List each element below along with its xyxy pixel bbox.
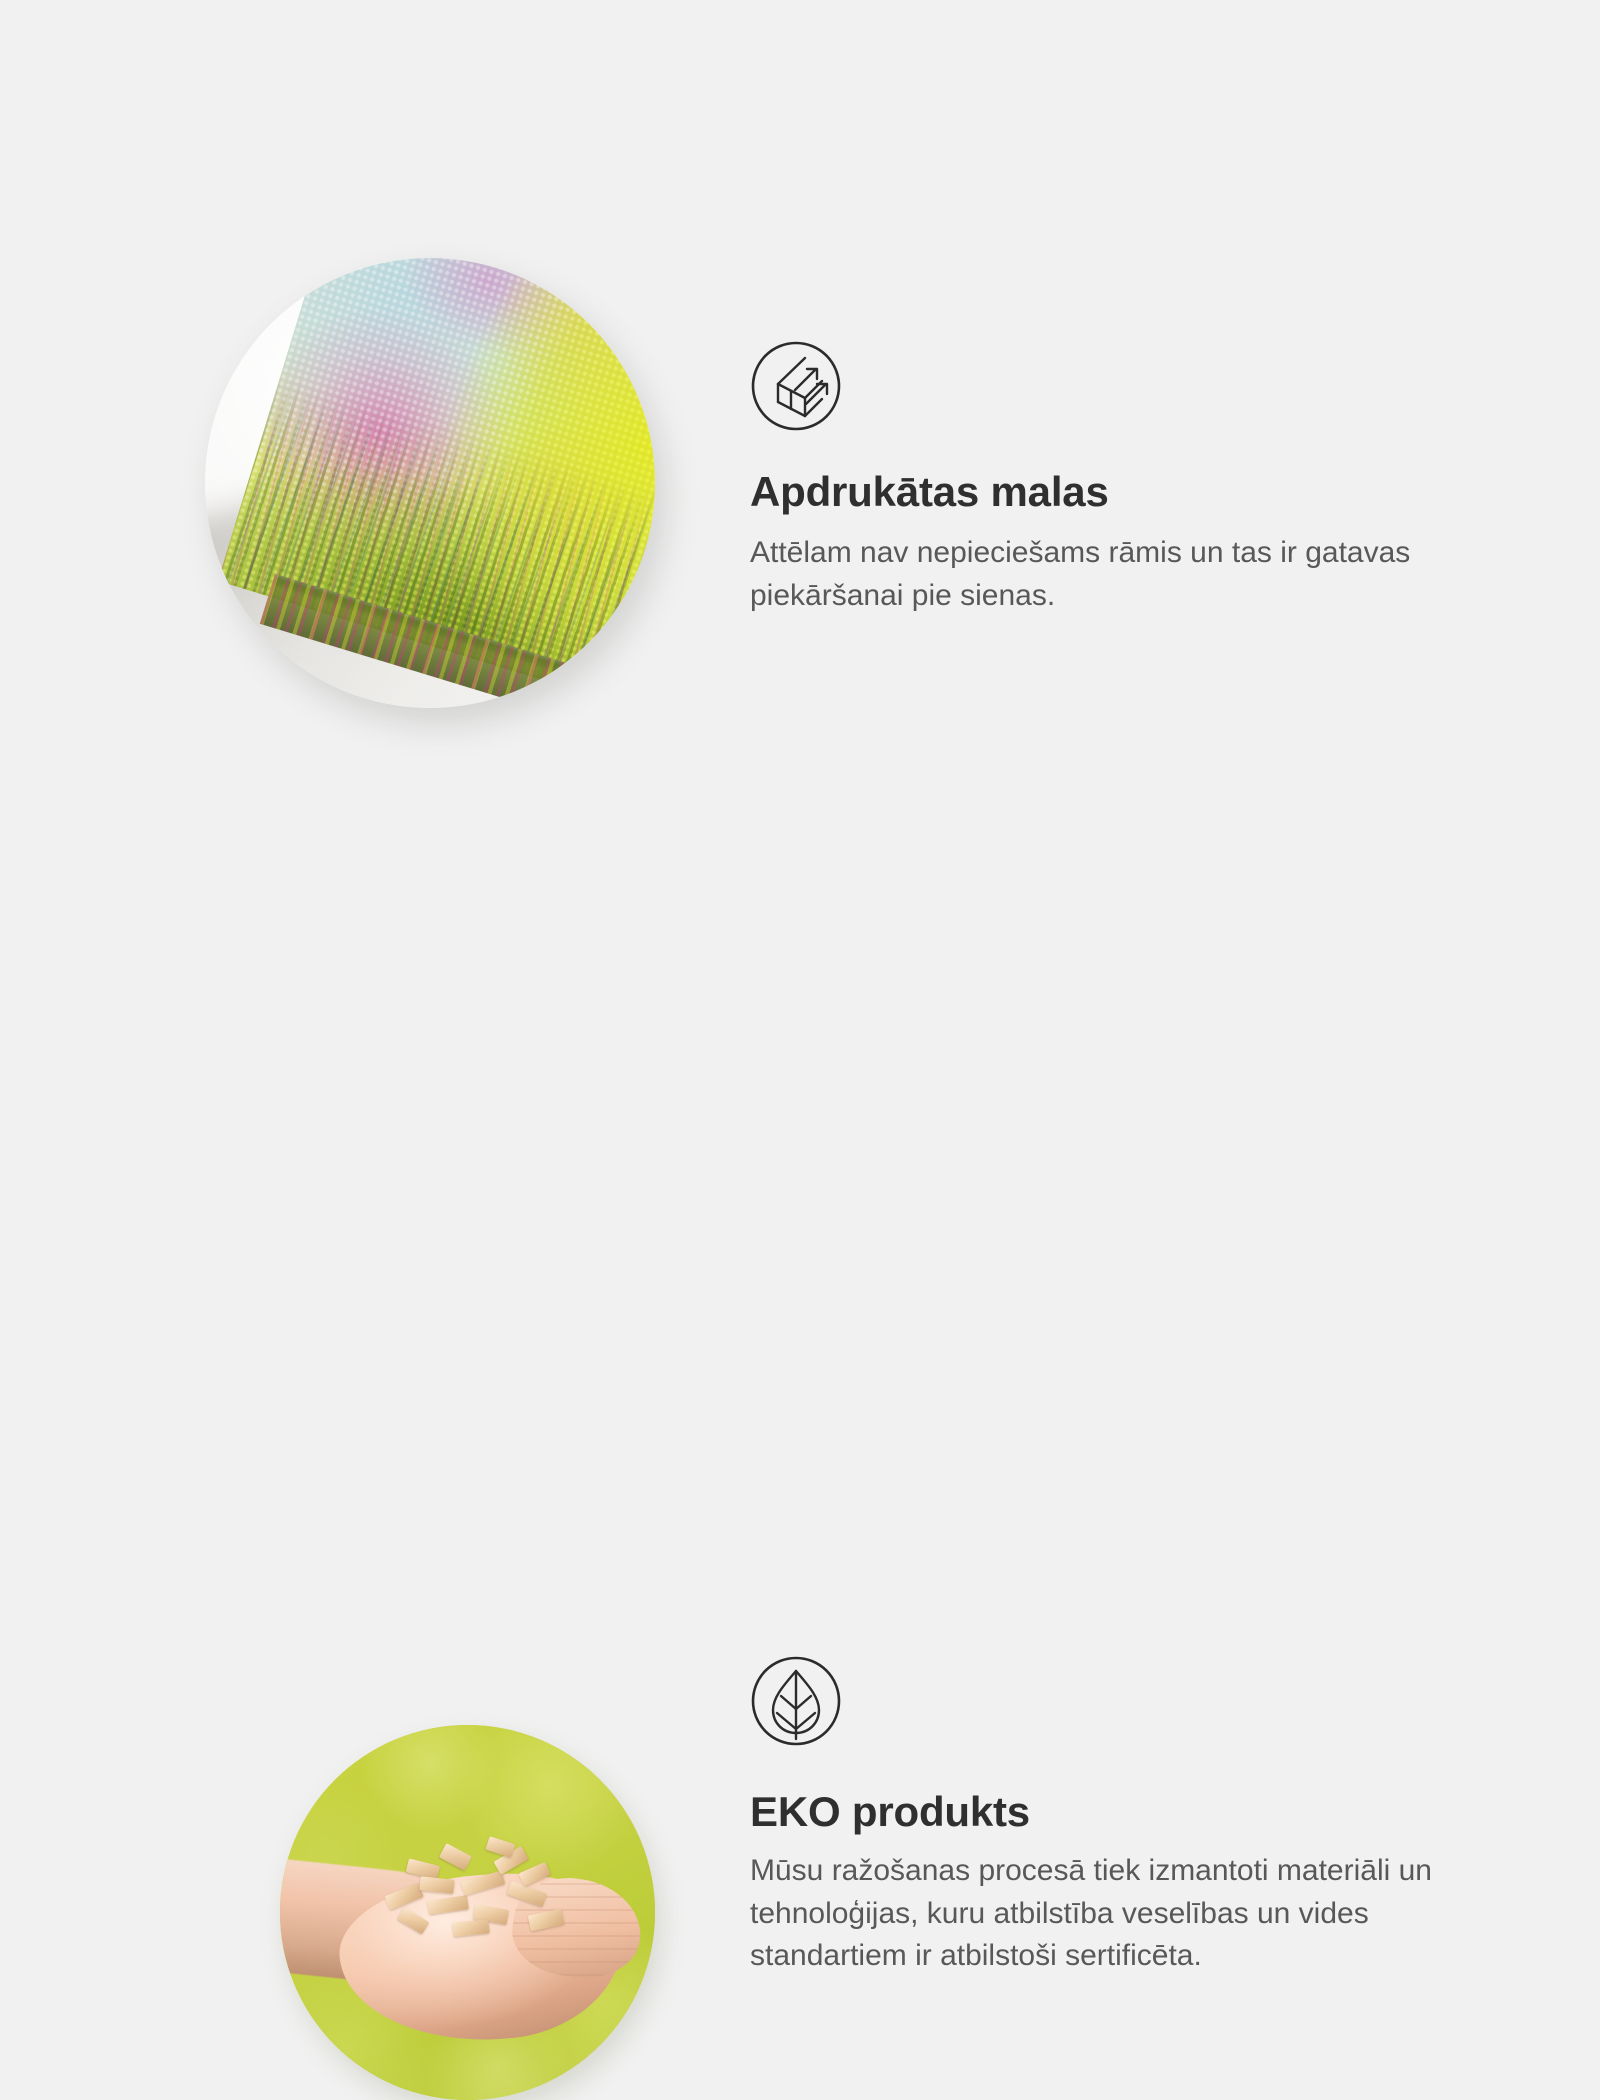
wood-chip [460, 1870, 504, 1895]
product-features-page: Apdrukātas malas Attēlam nav nepieciešam… [0, 0, 1600, 1600]
wood-chip [419, 1876, 454, 1893]
wood-chip [507, 1881, 547, 1907]
wood-chip [485, 1836, 515, 1857]
feature-description-printed-edges: Attēlam nav nepieciešams rāmis un tas ir… [750, 532, 1460, 617]
feature-block-eko-product: EKO produkts Mūsu ražošanas procesā tiek… [0, 800, 1600, 1600]
wood-chip [452, 1919, 489, 1936]
wood-chip [527, 1908, 563, 1930]
wood-chip [427, 1896, 468, 1915]
printed-edges-icon [750, 340, 842, 432]
hand-wood-chips-photo [280, 1725, 655, 2100]
text-column: Apdrukātas malas Attēlam nav nepieciešam… [750, 0, 1480, 800]
wood-chip [519, 1861, 551, 1885]
wood-chip [439, 1843, 472, 1871]
wood-chip-pile [378, 1838, 588, 1951]
feature-description-eko-product: Mūsu ražošanas procesā tiek izmantoti ma… [750, 1850, 1460, 1978]
text-column: EKO produkts Mūsu ražošanas procesā tiek… [750, 800, 1480, 1600]
feature-title-eko-product: EKO produkts [750, 1788, 1030, 1836]
feature-block-printed-edges: Apdrukātas malas Attēlam nav nepieciešam… [0, 0, 1600, 800]
media-column [0, 0, 720, 800]
media-column [0, 800, 720, 1600]
leaf-icon [750, 1655, 842, 1747]
feature-title-printed-edges: Apdrukātas malas [750, 468, 1109, 516]
canvas-print-corner-photo [205, 258, 655, 708]
wood-chip [397, 1907, 429, 1934]
wood-chip [384, 1883, 423, 1910]
